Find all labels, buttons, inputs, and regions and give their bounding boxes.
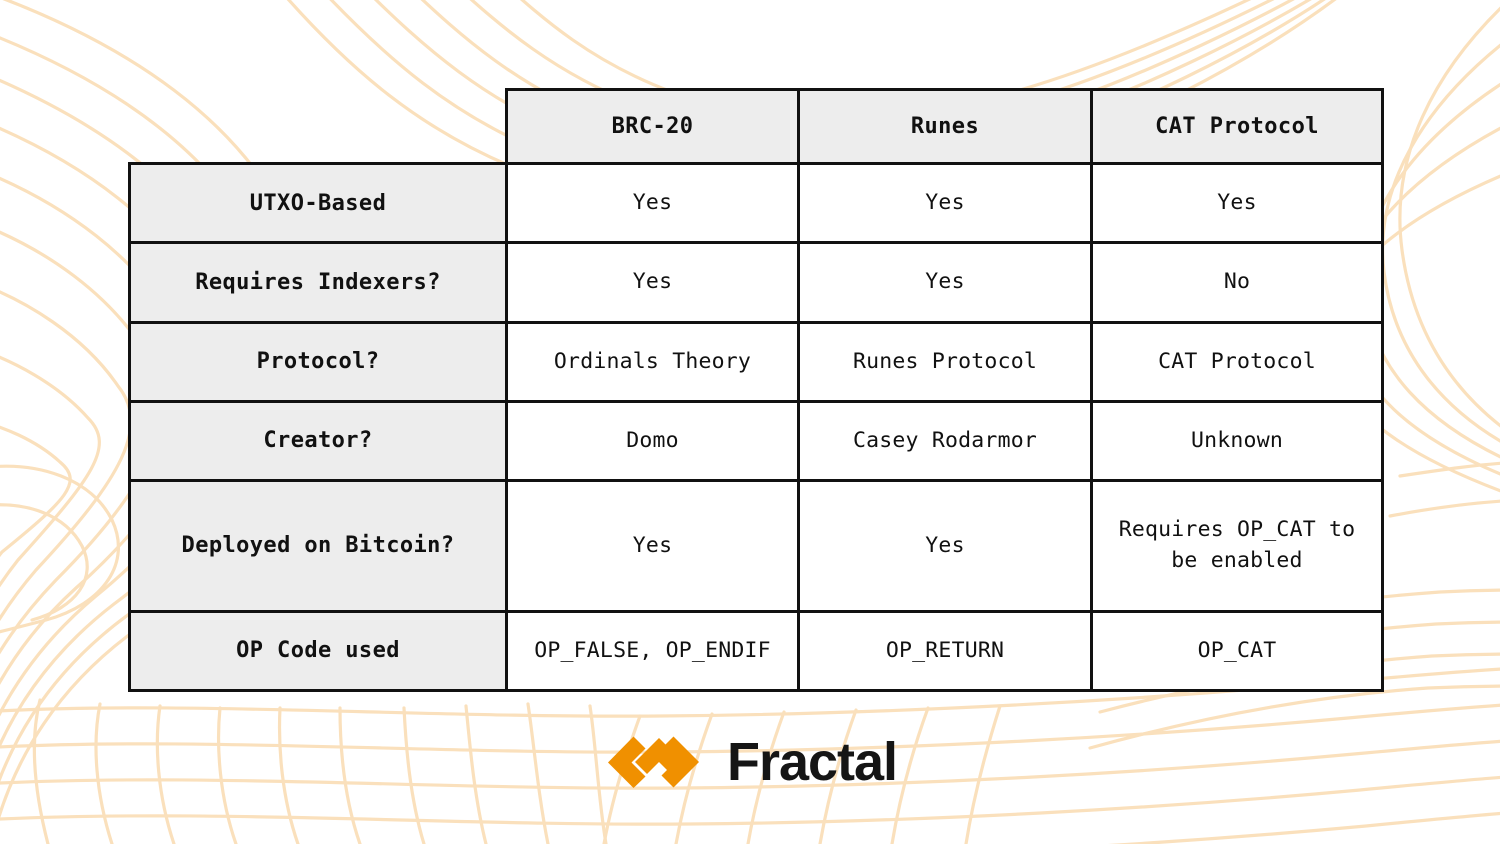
fractal-chevron-logo-icon	[603, 736, 705, 788]
cell-requires-indexers-cat-protocol: No	[1092, 243, 1383, 322]
cell-creator-cat-protocol: Unknown	[1092, 401, 1383, 480]
table-row: Requires Indexers? Yes Yes No	[130, 243, 1383, 322]
column-header-cat-protocol: CAT Protocol	[1092, 90, 1383, 164]
cell-protocol-cat-protocol: CAT Protocol	[1092, 322, 1383, 401]
table-row: OP Code used OP_FALSE, OP_ENDIF OP_RETUR…	[130, 611, 1383, 690]
cell-deployed-on-bitcoin-runes: Yes	[799, 481, 1092, 611]
row-header-op-code-used: OP Code used	[130, 611, 507, 690]
column-header-brc20: BRC-20	[507, 90, 799, 164]
table-header-row: BRC-20 Runes CAT Protocol	[130, 90, 1383, 164]
table-corner-cell	[130, 90, 507, 164]
cell-deployed-on-bitcoin-cat-protocol: Requires OP_CAT to be enabled	[1092, 481, 1383, 611]
cell-protocol-runes: Runes Protocol	[799, 322, 1092, 401]
cell-op-code-used-runes: OP_RETURN	[799, 611, 1092, 690]
protocol-comparison-table: BRC-20 Runes CAT Protocol UTXO-Based Yes…	[128, 88, 1384, 692]
row-header-deployed-on-bitcoin: Deployed on Bitcoin?	[130, 481, 507, 611]
cell-creator-brc20: Domo	[507, 401, 799, 480]
cell-utxo-based-cat-protocol: Yes	[1092, 164, 1383, 243]
cell-utxo-based-brc20: Yes	[507, 164, 799, 243]
brand-wordmark: Fractal	[727, 735, 897, 789]
column-header-runes: Runes	[799, 90, 1092, 164]
cell-op-code-used-brc20: OP_FALSE, OP_ENDIF	[507, 611, 799, 690]
comparison-table-wrapper: BRC-20 Runes CAT Protocol UTXO-Based Yes…	[128, 88, 1381, 692]
row-header-protocol: Protocol?	[130, 322, 507, 401]
table-row: UTXO-Based Yes Yes Yes	[130, 164, 1383, 243]
cell-requires-indexers-runes: Yes	[799, 243, 1092, 322]
cell-deployed-on-bitcoin-brc20: Yes	[507, 481, 799, 611]
cell-requires-indexers-brc20: Yes	[507, 243, 799, 322]
row-header-requires-indexers: Requires Indexers?	[130, 243, 507, 322]
cell-protocol-brc20: Ordinals Theory	[507, 322, 799, 401]
row-header-creator: Creator?	[130, 401, 507, 480]
row-header-utxo-based: UTXO-Based	[130, 164, 507, 243]
brand-lockup: Fractal	[0, 722, 1500, 802]
cell-op-code-used-cat-protocol: OP_CAT	[1092, 611, 1383, 690]
table-row: Creator? Domo Casey Rodarmor Unknown	[130, 401, 1383, 480]
cell-creator-runes: Casey Rodarmor	[799, 401, 1092, 480]
cell-utxo-based-runes: Yes	[799, 164, 1092, 243]
table-row: Protocol? Ordinals Theory Runes Protocol…	[130, 322, 1383, 401]
table-row: Deployed on Bitcoin? Yes Yes Requires OP…	[130, 481, 1383, 611]
